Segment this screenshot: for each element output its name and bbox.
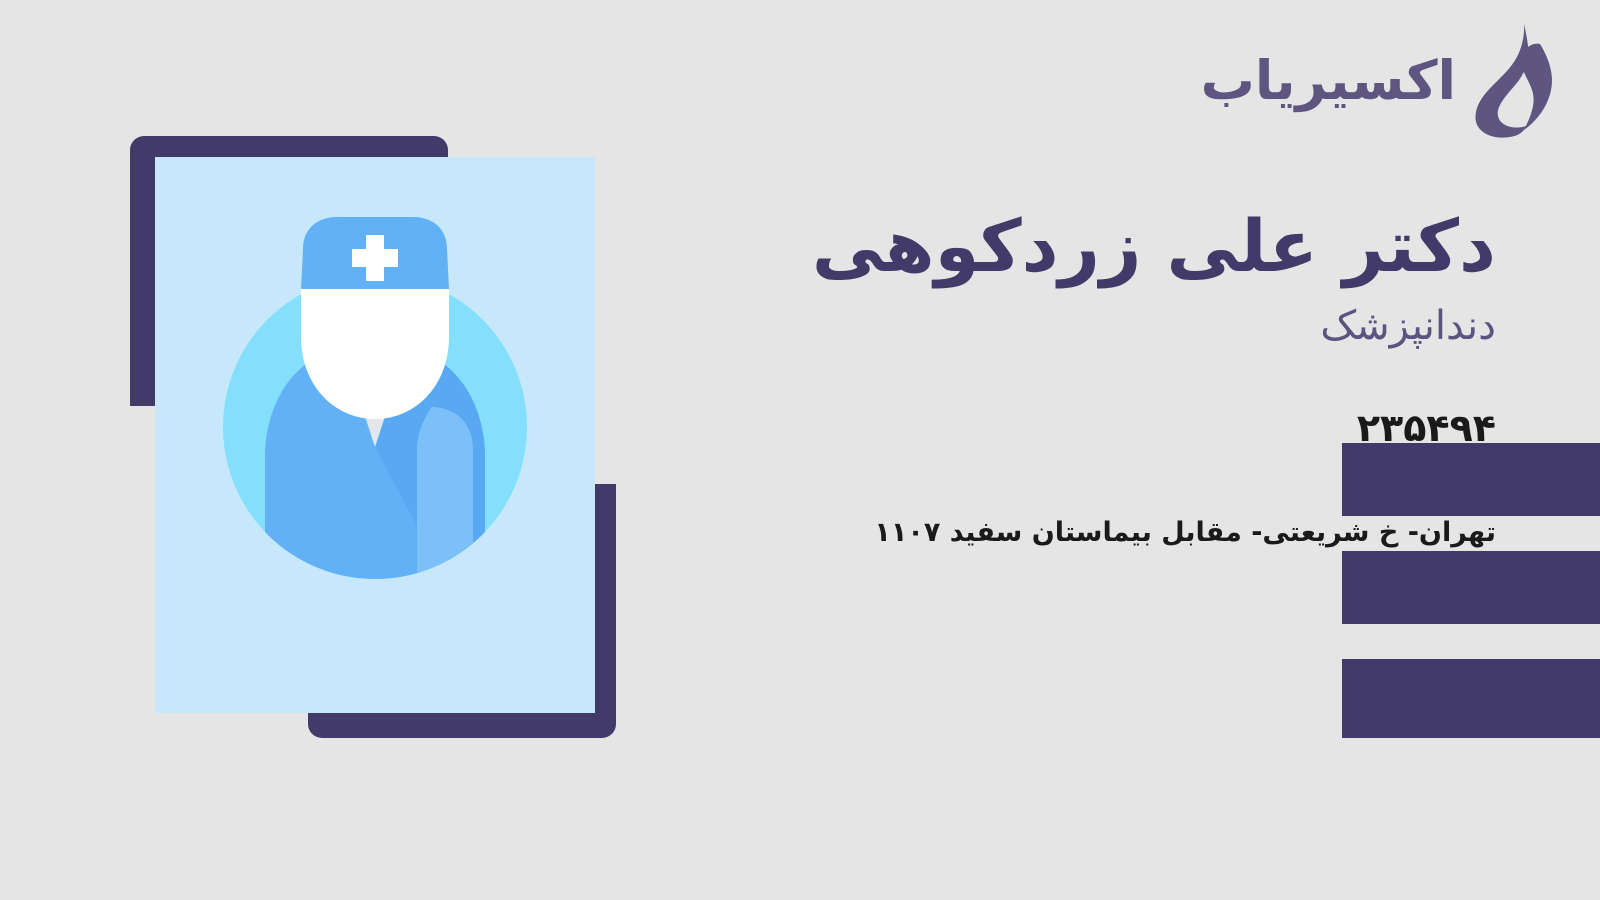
decorative-bar-2 bbox=[1342, 551, 1600, 624]
doctor-profile-card: اکسیریاب bbox=[0, 0, 1600, 900]
doctor-photo bbox=[155, 157, 595, 713]
decorative-bar-3 bbox=[1342, 659, 1600, 738]
decorative-bar-1 bbox=[1342, 443, 1600, 516]
doctor-illustration bbox=[128, 132, 620, 744]
decorative-bars bbox=[1330, 0, 1600, 900]
doctor-avatar-icon bbox=[155, 157, 595, 713]
